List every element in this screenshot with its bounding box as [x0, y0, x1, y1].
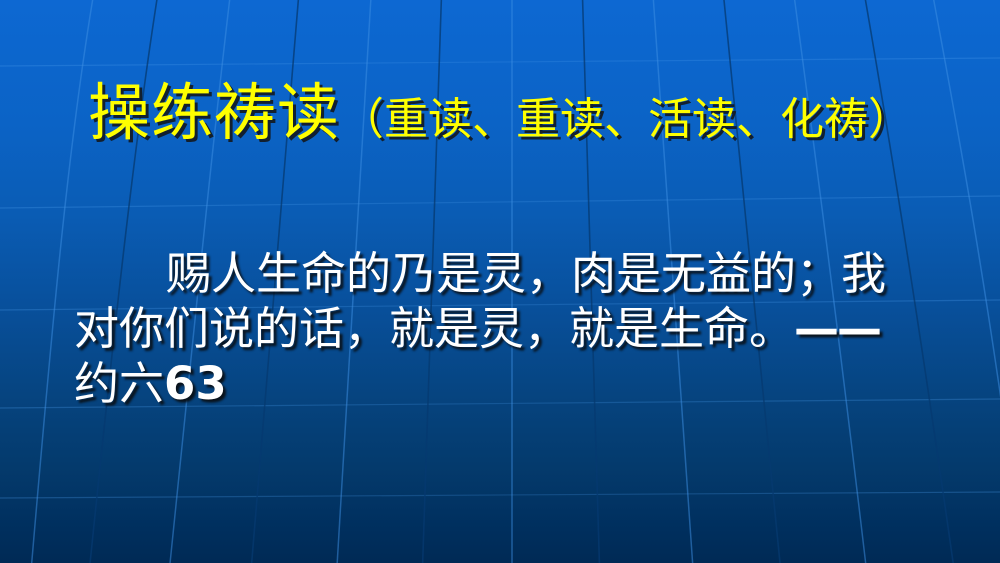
em-dash: —— — [794, 302, 880, 355]
slide-title-parenthetical: （重读、重读、活读、化祷） — [340, 94, 912, 145]
scripture-reference: 约六63 — [74, 356, 954, 411]
slide-title: 操练祷读（重读、重读、活读、化祷） — [0, 82, 1000, 144]
scripture-reference-label: 约六 — [74, 357, 164, 410]
body-line-1: 赐人生命的乃是灵，肉是无益的；我 — [74, 246, 954, 301]
slide-title-main: 操练祷读 — [88, 76, 340, 149]
presentation-slide: 操练祷读（重读、重读、活读、化祷） 赐人生命的乃是灵，肉是无益的；我 对你们说的… — [0, 0, 1000, 563]
scripture-reference-number: 63 — [164, 357, 227, 410]
body-line-2-text: 对你们说的话，就是灵，就是生命。 — [74, 302, 794, 355]
slide-body: 赐人生命的乃是灵，肉是无益的；我 对你们说的话，就是灵，就是生命。—— 约六63 — [74, 246, 954, 411]
body-line-2: 对你们说的话，就是灵，就是生命。—— — [74, 301, 954, 356]
